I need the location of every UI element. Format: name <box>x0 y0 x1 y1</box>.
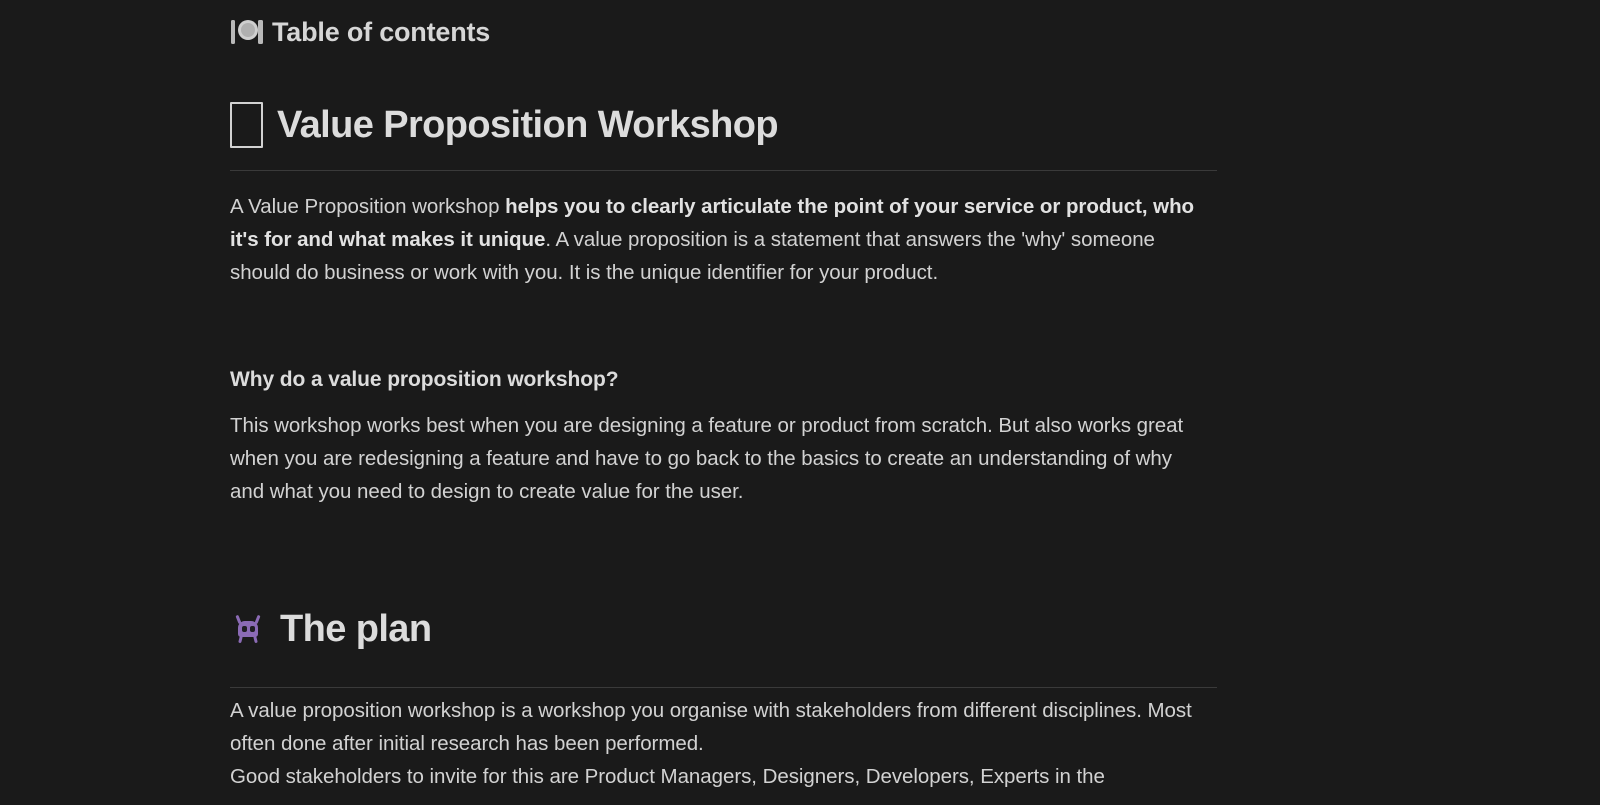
the-plan-heading: The plan <box>230 605 431 653</box>
document-page: Table of contents Value Proposition Work… <box>0 0 1600 805</box>
intro-paragraph-block: A Value Proposition workshop helps you t… <box>230 190 1205 289</box>
divider-rule <box>230 687 1217 688</box>
the-plan-paragraph-2: Good stakeholders to invite for this are… <box>230 760 1205 793</box>
why-workshop-paragraph-block: This workshop works best when you are de… <box>230 409 1205 508</box>
table-of-contents-label: Table of contents <box>272 14 490 50</box>
plate-fork-knife-icon <box>230 17 264 47</box>
the-plan-title: The plan <box>280 605 431 653</box>
table-of-contents-block: Table of contents <box>230 6 490 50</box>
intro-lead-text: A Value Proposition workshop <box>230 195 505 218</box>
missing-glyph-box-icon <box>230 102 263 148</box>
table-of-contents-heading: Table of contents <box>230 6 490 50</box>
value-proposition-workshop-title: Value Proposition Workshop <box>277 101 778 149</box>
intro-paragraph: A Value Proposition workshop helps you t… <box>230 190 1205 289</box>
section-heading-the-plan: The plan <box>230 605 431 653</box>
section-divider-top <box>230 170 1217 171</box>
section-heading-value-proposition-workshop: Value Proposition Workshop <box>230 101 778 149</box>
the-plan-paragraph-1: A value proposition workshop is a worksh… <box>230 694 1205 760</box>
subheading-block: Why do a value proposition workshop? <box>230 365 618 395</box>
section-divider-the-plan <box>230 687 1217 688</box>
why-workshop-paragraph: This workshop works best when you are de… <box>230 409 1205 508</box>
the-plan-paragraph-block: A value proposition workshop is a worksh… <box>230 694 1205 793</box>
alien-monster-icon <box>230 612 266 646</box>
why-workshop-subheading: Why do a value proposition workshop? <box>230 365 618 395</box>
value-proposition-workshop-heading: Value Proposition Workshop <box>230 101 778 149</box>
divider-rule <box>230 170 1217 171</box>
